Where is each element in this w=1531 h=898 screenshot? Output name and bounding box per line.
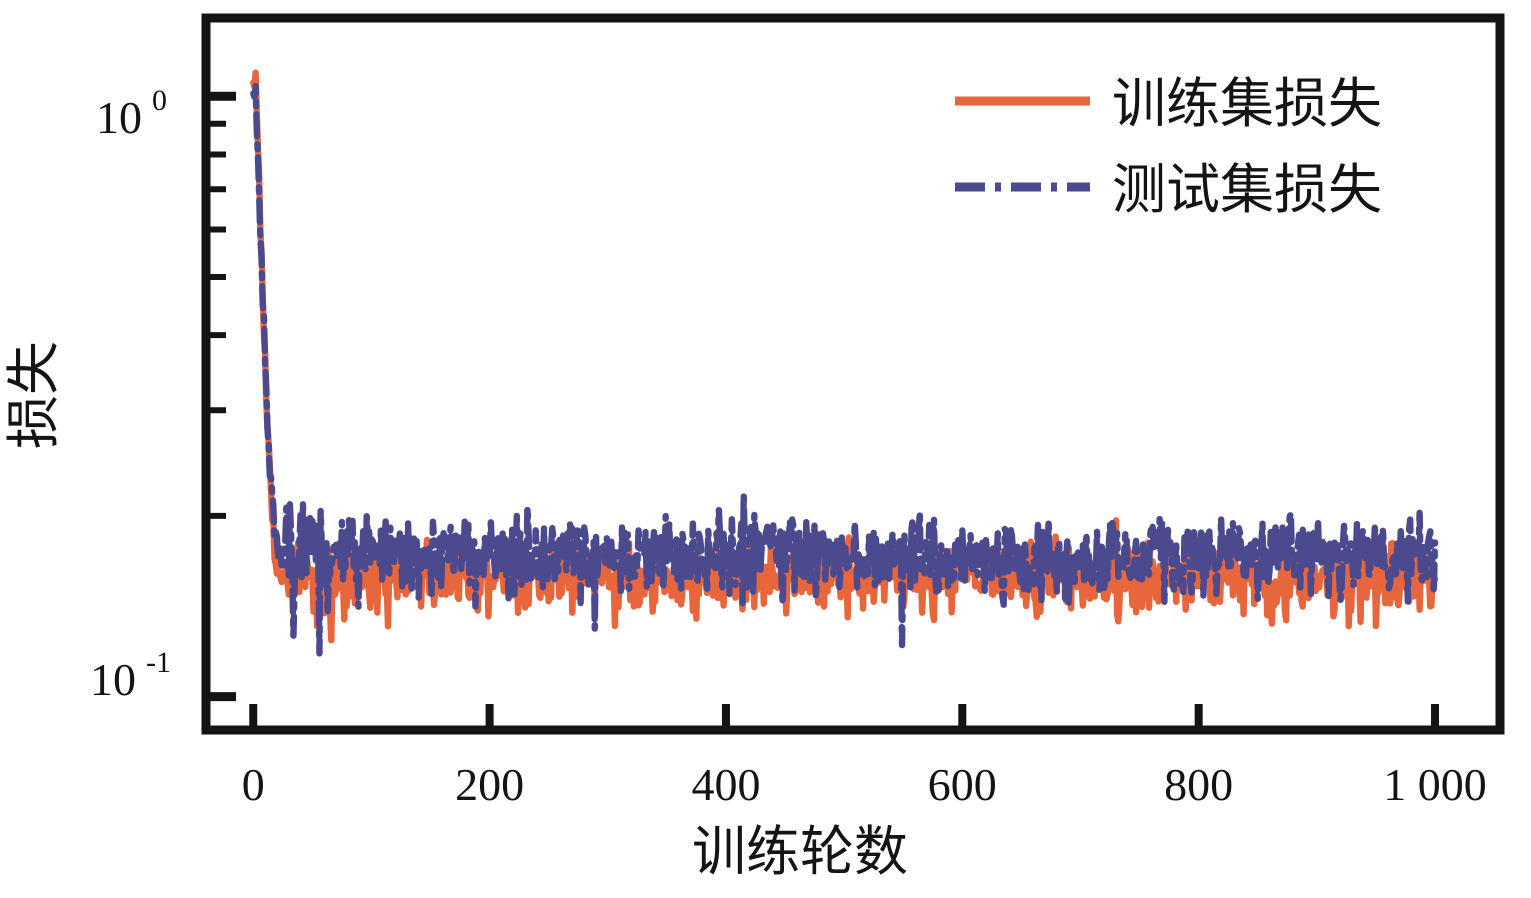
- y-tick-label-top-base: 10: [96, 92, 142, 143]
- x-axis-title: 训练轮数: [692, 822, 908, 882]
- x-tick-label-800: 800: [1164, 759, 1233, 810]
- y-tick-label-bottom-exponent: -1: [146, 646, 171, 679]
- legend-label-test: 测试集损失: [1112, 160, 1382, 220]
- y-tick-label-bottom-base: 10: [90, 654, 136, 705]
- x-tick-label-200: 200: [455, 759, 524, 810]
- x-tick-label-400: 400: [691, 759, 760, 810]
- loss-curve-chart: 10 0 10 -1 02004006008001 000 训练轮数 损失 训练…: [0, 0, 1531, 898]
- chart-background: [0, 0, 1531, 898]
- chart-page: 10 0 10 -1 02004006008001 000 训练轮数 损失 训练…: [0, 0, 1531, 898]
- y-axis-title: 损失: [4, 341, 64, 449]
- x-tick-label-1000: 1 000: [1383, 759, 1487, 810]
- x-tick-label-0: 0: [242, 759, 265, 810]
- legend-label-train: 训练集损失: [1112, 74, 1382, 134]
- y-tick-label-top-exponent: 0: [152, 84, 167, 117]
- x-tick-label-600: 600: [928, 759, 997, 810]
